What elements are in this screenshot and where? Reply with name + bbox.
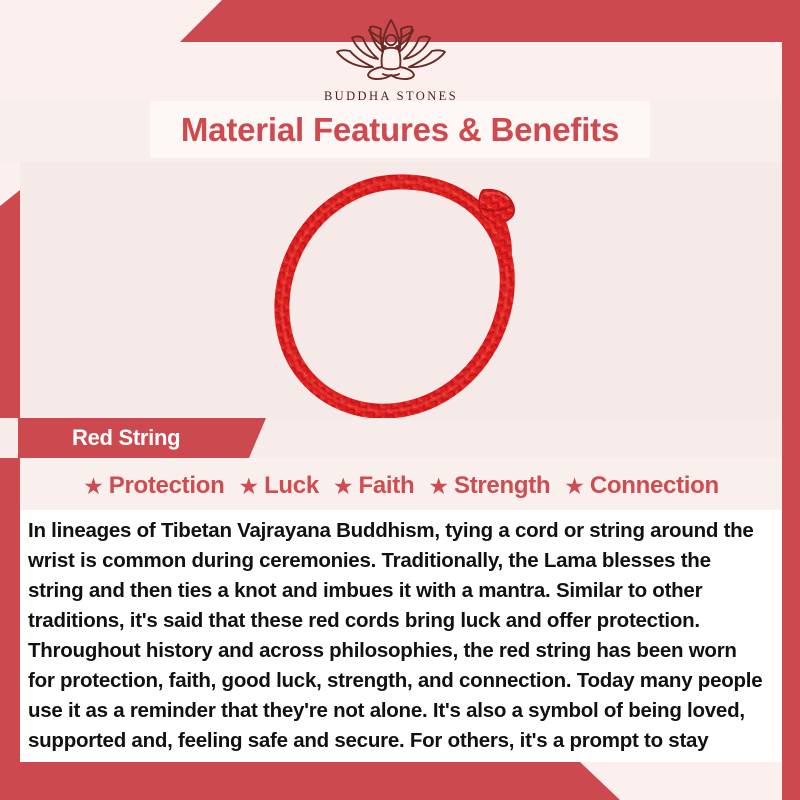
benefit-label: Luck [264, 472, 319, 500]
benefit-label: Faith [359, 472, 415, 500]
material-label: Red String [72, 425, 180, 451]
page-title: Material Features & Benefits [181, 111, 619, 149]
product-photo [20, 162, 782, 418]
star-icon: ★ [564, 475, 585, 498]
description-panel: In lineages of Tibetan Vajrayana Buddhis… [20, 510, 782, 762]
benefit-label: Connection [590, 472, 719, 500]
benefit-label: Protection [109, 472, 225, 500]
red-braided-bracelet-image [231, 162, 571, 418]
left-red-slab [0, 190, 20, 800]
right-red-strip [782, 0, 800, 800]
benefit-label: Strength [454, 472, 550, 500]
poster-canvas: BUDDHA STONES Material Features & Benefi… [0, 0, 800, 800]
benefit-item-strength: ★ Strength [428, 472, 550, 500]
benefit-item-faith: ★ Faith [333, 472, 414, 500]
material-label-ribbon: Red String [18, 418, 266, 458]
benefit-item-luck: ★ Luck [238, 472, 318, 500]
star-icon: ★ [428, 475, 449, 498]
brand-logo: BUDDHA STONES [0, 14, 782, 104]
benefit-item-protection: ★ Protection [83, 472, 224, 500]
description-text: In lineages of Tibetan Vajrayana Buddhis… [28, 516, 766, 786]
benefits-row: ★ Protection ★ Luck ★ Faith ★ Strength ★… [20, 462, 782, 510]
benefit-item-connection: ★ Connection [564, 472, 719, 500]
title-plate: Material Features & Benefits [150, 101, 650, 158]
lotus-meditation-icon [325, 14, 457, 86]
star-icon: ★ [333, 475, 354, 498]
star-icon: ★ [238, 475, 259, 498]
star-icon: ★ [83, 475, 104, 498]
